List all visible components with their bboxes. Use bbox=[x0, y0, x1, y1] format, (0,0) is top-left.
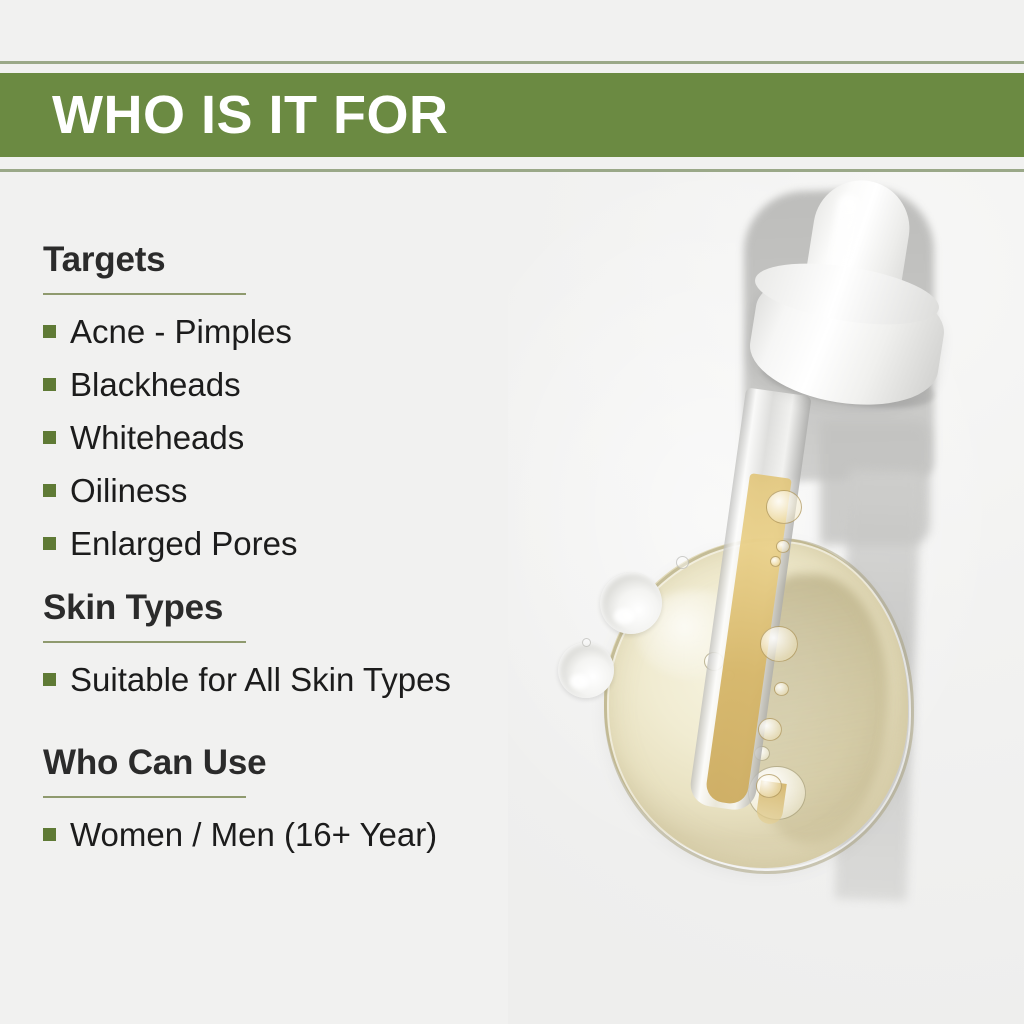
section-banner: WHO IS IT FOR bbox=[0, 73, 1024, 157]
list-item-label: Women / Men (16+ Year) bbox=[70, 810, 437, 859]
page-title: WHO IS IT FOR bbox=[52, 88, 448, 142]
oil-bubble bbox=[758, 718, 782, 741]
list-item: Blackheads bbox=[43, 360, 297, 409]
heading-underline bbox=[43, 796, 246, 798]
product-photo bbox=[508, 170, 1024, 1024]
section-skin-types: Skin Types Suitable for All Skin Types bbox=[43, 590, 451, 708]
oil-bubble bbox=[770, 556, 781, 567]
who-can-use-list: Women / Men (16+ Year) bbox=[43, 810, 437, 859]
section-heading-targets: Targets bbox=[43, 242, 297, 279]
section-targets: Targets Acne - Pimples Blackheads Whiteh… bbox=[43, 242, 297, 572]
square-bullet-icon bbox=[43, 484, 56, 497]
oil-bubble bbox=[766, 490, 802, 524]
oil-bubble bbox=[774, 682, 789, 696]
skin-types-list: Suitable for All Skin Types bbox=[43, 655, 451, 704]
list-item-label: Blackheads bbox=[70, 360, 241, 409]
list-item: Enlarged Pores bbox=[43, 519, 297, 568]
square-bullet-icon bbox=[43, 828, 56, 841]
water-droplet bbox=[558, 642, 614, 698]
list-item-label: Enlarged Pores bbox=[70, 519, 297, 568]
list-item: Oiliness bbox=[43, 466, 297, 515]
square-bullet-icon bbox=[43, 431, 56, 444]
square-bullet-icon bbox=[43, 325, 56, 338]
list-item-label: Whiteheads bbox=[70, 413, 244, 462]
section-heading-who-can-use: Who Can Use bbox=[43, 745, 437, 782]
micro-droplet bbox=[582, 638, 591, 647]
square-bullet-icon bbox=[43, 673, 56, 686]
list-item-label: Suitable for All Skin Types bbox=[70, 655, 451, 704]
banner-rule-top bbox=[0, 61, 1024, 64]
oil-bubble bbox=[776, 540, 790, 553]
oil-bubble bbox=[760, 626, 798, 662]
oil-bubble bbox=[756, 774, 782, 798]
list-item-label: Acne - Pimples bbox=[70, 307, 292, 356]
section-heading-skin-types: Skin Types bbox=[43, 590, 451, 627]
square-bullet-icon bbox=[43, 378, 56, 391]
list-item: Suitable for All Skin Types bbox=[43, 655, 451, 704]
heading-underline bbox=[43, 293, 246, 295]
heading-underline bbox=[43, 641, 246, 643]
list-item: Acne - Pimples bbox=[43, 307, 297, 356]
infographic-canvas: WHO IS IT FOR Targets Acne - Pimples Bla… bbox=[0, 0, 1024, 1024]
targets-list: Acne - Pimples Blackheads Whiteheads Oil… bbox=[43, 307, 297, 568]
banner-rule-bottom bbox=[0, 169, 1024, 172]
micro-droplet bbox=[676, 556, 689, 569]
list-item: Women / Men (16+ Year) bbox=[43, 810, 437, 859]
section-who-can-use: Who Can Use Women / Men (16+ Year) bbox=[43, 745, 437, 863]
list-item: Whiteheads bbox=[43, 413, 297, 462]
water-droplet bbox=[600, 572, 662, 634]
square-bullet-icon bbox=[43, 537, 56, 550]
list-item-label: Oiliness bbox=[70, 466, 187, 515]
